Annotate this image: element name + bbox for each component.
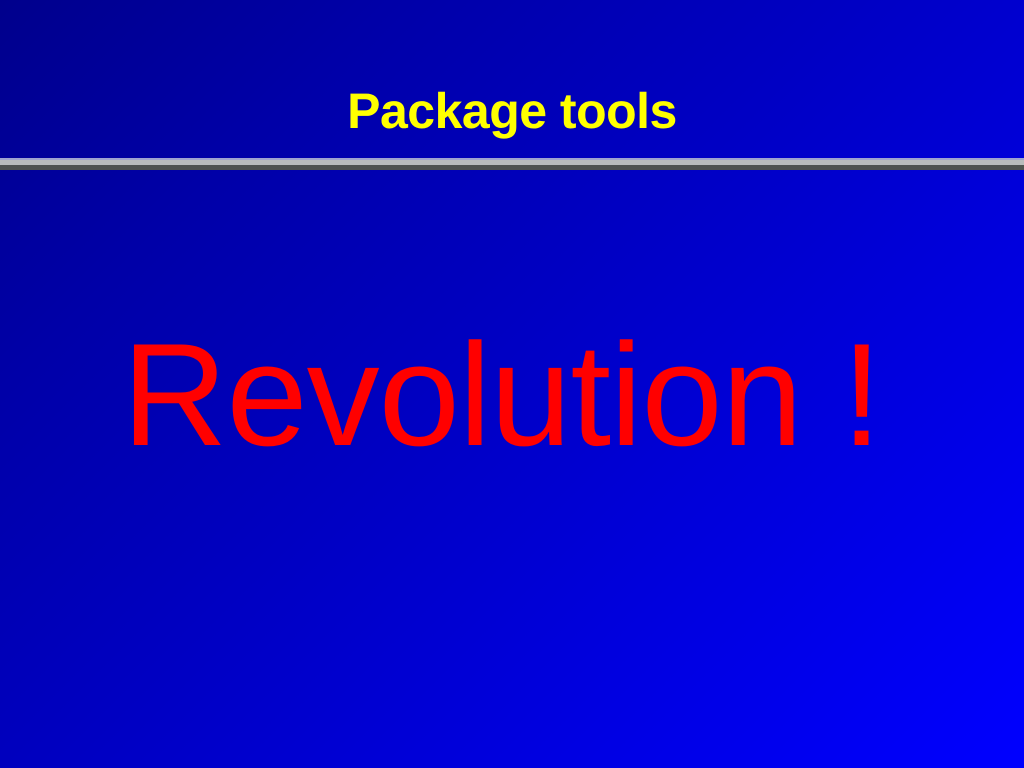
presentation-slide: Package tools Revolution !	[0, 0, 1024, 768]
slide-title-zone: Package tools	[0, 0, 1024, 158]
title-divider-rule	[0, 158, 1024, 170]
slide-body-zone: Revolution !	[0, 170, 1024, 768]
slide-title: Package tools	[347, 86, 677, 158]
slide-body-text: Revolution !	[122, 322, 881, 468]
